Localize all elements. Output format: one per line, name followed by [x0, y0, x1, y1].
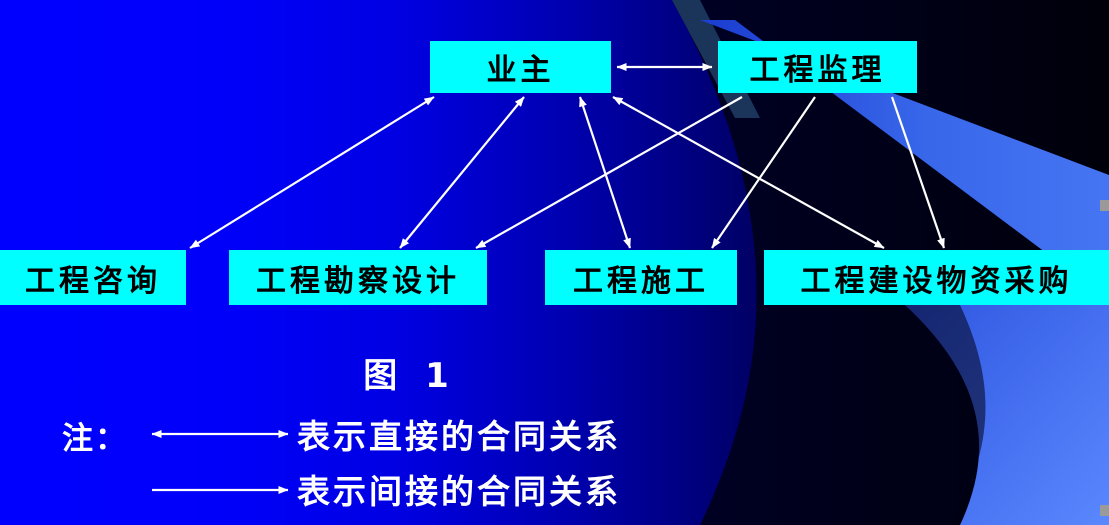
node-survey-design[interactable]: 工程勘察设计: [229, 250, 487, 305]
edge-owner-consulting: [190, 97, 434, 248]
node-consulting[interactable]: 工程咨询: [0, 250, 186, 305]
figure-caption: 图 1: [0, 348, 820, 397]
node-procurement-label: 工程建设物资采购: [801, 256, 1073, 300]
node-procurement[interactable]: 工程建设物资采购: [764, 250, 1109, 305]
node-owner[interactable]: 业主: [430, 41, 611, 93]
node-consulting-label: 工程咨询: [25, 256, 161, 300]
edge-supervisor-construction: [712, 97, 815, 248]
node-supervisor-label: 工程监理: [750, 45, 886, 89]
node-construction-label: 工程施工: [573, 256, 709, 300]
legend-note-prefix: 注：: [62, 413, 128, 458]
node-construction[interactable]: 工程施工: [545, 250, 737, 305]
edge-owner-procurement: [613, 97, 884, 248]
edge-owner-survey-design: [400, 97, 524, 248]
node-supervisor[interactable]: 工程监理: [718, 41, 917, 93]
edge-supervisor-procurement: [892, 97, 944, 248]
legend-label-direct: 表示直接的合同关系: [297, 410, 621, 458]
slide-canvas: 业主 工程监理 工程咨询 工程勘察设计 工程施工 工程建设物资采购 图 1 注：…: [0, 0, 1109, 525]
node-survey-design-label: 工程勘察设计: [256, 256, 460, 300]
edge-owner-construction: [580, 97, 630, 248]
legend-label-indirect: 表示间接的合同关系: [297, 465, 621, 513]
edge-supervisor-survey-design: [476, 97, 742, 248]
node-owner-label: 业主: [487, 45, 555, 89]
